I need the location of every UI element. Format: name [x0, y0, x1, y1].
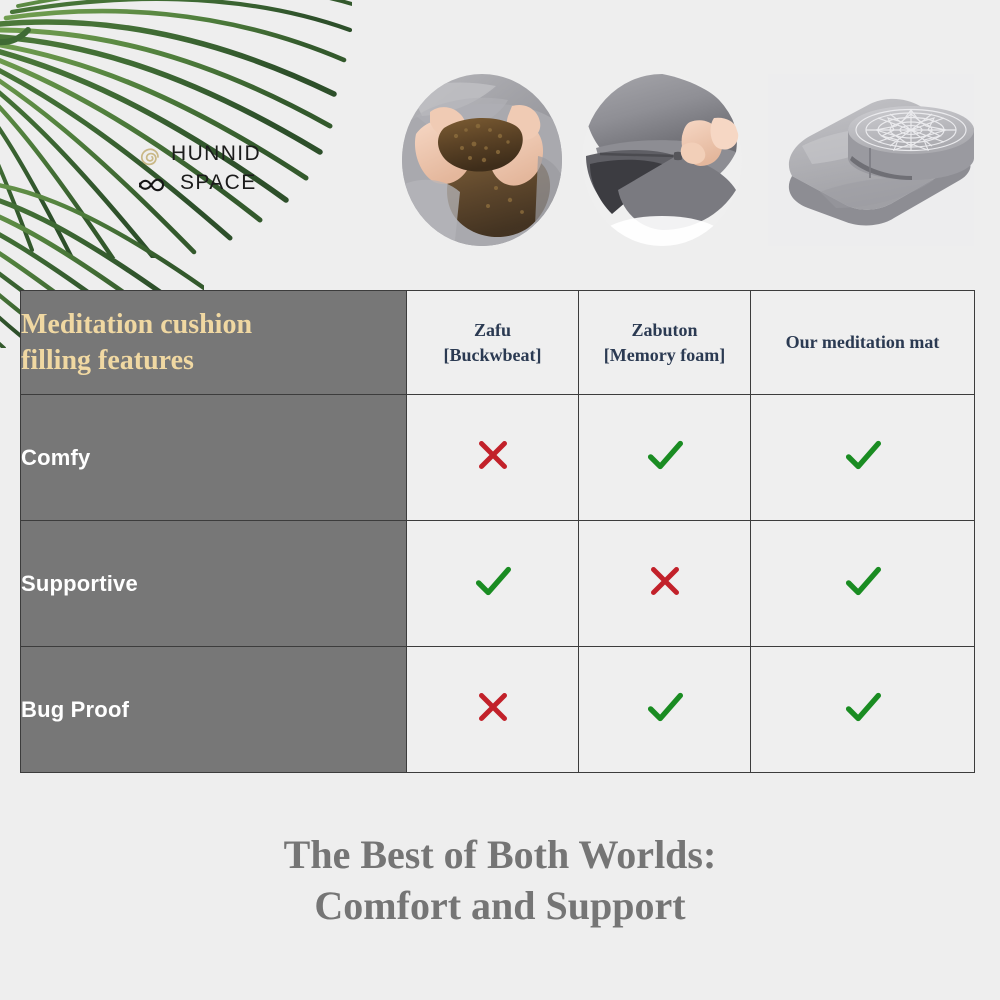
row-label-bug-proof: Bug Proof: [21, 647, 407, 773]
tagline-line-1: The Best of Both Worlds:: [0, 830, 1000, 881]
cell-supportive-our-mat: [751, 521, 975, 647]
row-label-supportive-text: Supportive: [21, 571, 138, 596]
column-header-our-mat-line-1: Our meditation mat: [757, 330, 968, 354]
brand-logo: HUNNID SPACE: [138, 143, 261, 200]
column-header-zafu: Zafu [Buckwbeat]: [407, 291, 579, 395]
check-icon: [642, 432, 688, 478]
column-header-zafu-line-1: Zafu: [413, 318, 572, 342]
cell-comfy-our-mat: [751, 395, 975, 521]
spiral-icon: [142, 149, 158, 164]
check-icon: [642, 684, 688, 730]
row-label-comfy-text: Comfy: [21, 445, 90, 470]
table-title-cell: Meditation cushion filling features: [21, 291, 407, 395]
table-row: Supportive: [21, 521, 975, 647]
cross-icon: [470, 684, 516, 730]
row-label-comfy: Comfy: [21, 395, 407, 521]
cross-icon: [470, 432, 516, 478]
buckwheat-hull-fill-photo: [400, 70, 570, 250]
column-header-our-mat: Our meditation mat: [751, 291, 975, 395]
row-label-supportive: Supportive: [21, 521, 407, 647]
brand-name-line-2: SPACE: [180, 172, 261, 193]
column-header-zabuton-line-1: Zabuton: [585, 318, 744, 342]
check-icon: [840, 684, 886, 730]
table-title-line-2: filling features: [21, 343, 406, 379]
mandala-embroidery: [856, 110, 966, 151]
tagline-line-2: Comfort and Support: [0, 881, 1000, 932]
infinity-swirl-icon: [140, 180, 163, 191]
table-row: Bug Proof: [21, 647, 975, 773]
comparison-table: Meditation cushion filling features Zafu…: [20, 290, 975, 773]
cell-supportive-zabuton: [579, 521, 751, 647]
cell-bug-proof-our-mat: [751, 647, 975, 773]
check-icon: [840, 558, 886, 604]
cross-icon: [642, 558, 688, 604]
table-header-row: Meditation cushion filling features Zafu…: [21, 291, 975, 395]
column-header-zafu-line-2: [Buckwbeat]: [413, 343, 572, 367]
zafu-zabuton-set-photo: [768, 74, 974, 246]
cell-bug-proof-zafu: [407, 647, 579, 773]
palm-leaf-top-decoration: [0, 0, 352, 258]
table-title-line-1: Meditation cushion: [21, 307, 406, 343]
check-icon: [840, 432, 886, 478]
table-row: Comfy: [21, 395, 975, 521]
row-label-bug-proof-text: Bug Proof: [21, 697, 129, 722]
cell-comfy-zafu: [407, 395, 579, 521]
cell-bug-proof-zabuton: [579, 647, 751, 773]
cell-comfy-zabuton: [579, 395, 751, 521]
column-header-zabuton: Zabuton [Memory foam]: [579, 291, 751, 395]
brand-name-line-1: HUNNID: [171, 143, 261, 164]
cell-supportive-zafu: [407, 521, 579, 647]
column-header-zabuton-line-2: [Memory foam]: [585, 343, 744, 367]
zipper-closure-photo: [580, 60, 750, 260]
product-photo-strip: [400, 60, 980, 260]
check-icon: [470, 558, 516, 604]
brand-logo-marks: [138, 146, 164, 200]
tagline: The Best of Both Worlds: Comfort and Sup…: [0, 830, 1000, 932]
